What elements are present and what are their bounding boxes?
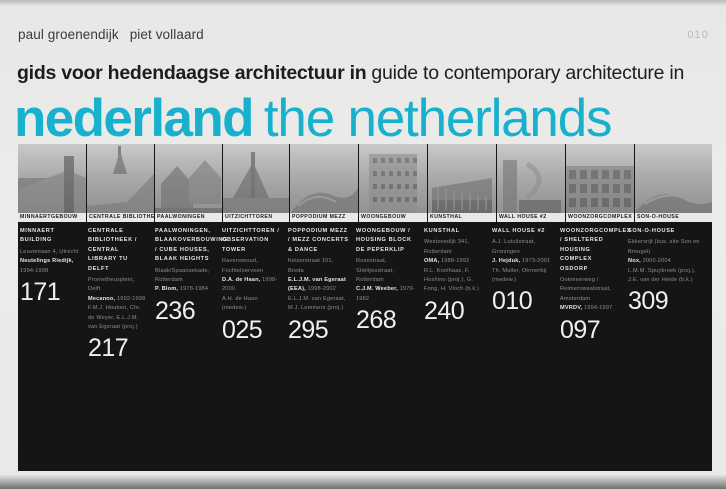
project-entry[interactable]: MINNAERT BUILDINGLeuvenlaan 4, UtrechtNe…: [18, 222, 86, 362]
project-page-number[interactable]: 217: [88, 335, 148, 362]
project-address: Ravenswoud, Fochteloerveen: [222, 257, 281, 276]
photo-strip: MINNAERTGEBOUWCENTRALE BIBLIOTHEEKPAALWO…: [18, 144, 712, 222]
project-page-number[interactable]: 097: [560, 317, 621, 344]
project-architect: J. Hejduk, 1973-2001: [492, 257, 553, 266]
project-architect: OMA, 1988-1992: [424, 257, 485, 266]
photo-artwork: [18, 144, 86, 222]
photo-caption: WOONZORGCOMPLEX: [566, 213, 634, 222]
project-meta: Westzeedijk 341, RotterdamOMA, 1988-1992…: [424, 238, 485, 294]
project-architect: Nox, 2000-2004: [628, 257, 707, 266]
photo-artwork: [497, 144, 565, 222]
photo-artwork: [87, 144, 154, 222]
project-collaborators: R.L. Koolhaas, F. Hoshino (proj.), G. Fo…: [424, 267, 485, 295]
project-architect: Mecanoo, 1992-1998: [88, 295, 148, 304]
photo-artwork: [635, 144, 712, 222]
project-meta: Ekkersrijt (bus. site Son en Breugel)Nox…: [628, 238, 707, 285]
photo-caption: CENTRALE BIBLIOTHEEK: [87, 213, 154, 222]
project-meta: Prometheusplein, DelftMecanoo, 1992-1998…: [88, 276, 148, 332]
project-meta: Leuvenlaan 4, UtrechtNeutelings Riedijk,…: [20, 248, 81, 276]
book-cover: paul groenendijkpiet vollaard 010 gids v…: [0, 0, 726, 489]
project-title: KUNSTHAL: [424, 227, 485, 236]
project-entry[interactable]: WOONZORGCOMPLEX / SHELTERED HOUSING COMP…: [558, 222, 626, 362]
project-title: WOONZORGCOMPLEX / SHELTERED HOUSING COMP…: [560, 227, 621, 274]
project-title: POPPODIUM MEZZ / MEZZ CONCERTS & DANCE: [288, 227, 349, 255]
project-meta: Keizerstraat 101, BredaE.L.J.M. van Eger…: [288, 257, 349, 313]
project-entry[interactable]: PAALWONINGEN, BLAAKOVERBOUWING / CUBE HO…: [153, 222, 220, 362]
project-photo: KUNSTHAL: [428, 144, 497, 222]
project-architect: E.L.J.M. van Egeraat (EEA), 1998-2002: [288, 276, 349, 295]
project-photo: MINNAERTGEBOUW: [18, 144, 87, 222]
project-address: A.J. Lutulistraat, Groningen: [492, 238, 553, 257]
project-address: Rosestraat, Stieltjesstraat, Rotterdam: [356, 257, 417, 285]
project-page-number[interactable]: 236: [155, 298, 215, 325]
project-panel: MINNAERTGEBOUWCENTRALE BIBLIOTHEEKPAALWO…: [18, 144, 712, 471]
project-address: Blaak/Spaansekade, Rotterdam: [155, 267, 215, 286]
photo-caption: KUNSTHAL: [428, 213, 496, 222]
project-entry[interactable]: POPPODIUM MEZZ / MEZZ CONCERTS & DANCEKe…: [286, 222, 354, 362]
project-page-number[interactable]: 268: [356, 307, 417, 334]
project-entry[interactable]: KUNSTHALWestzeedijk 341, RotterdamOMA, 1…: [422, 222, 490, 362]
photo-caption: SON-O-HOUSE: [635, 213, 712, 222]
project-meta: Ookmeerweg / Reimerswaalstraat, Amsterda…: [560, 276, 621, 314]
project-title: SON-O-HOUSE: [628, 227, 707, 236]
project-collaborators: Th. Muller, Ohrnerbij (medew.): [492, 267, 553, 286]
project-page-number[interactable]: 309: [628, 288, 707, 315]
photo-artwork: [566, 144, 634, 222]
subtitle-english: guide to contemporary architecture in: [371, 62, 684, 84]
project-title: WOONGEBOUW / HOUSING BLOCK DE PEPERKLIP: [356, 227, 417, 255]
project-photo: SON-O-HOUSE: [635, 144, 712, 222]
photo-caption: PAALWONINGEN: [155, 213, 222, 222]
project-photo: WALL HOUSE #2: [497, 144, 566, 222]
project-entry[interactable]: CENTRALE BIBLIOTHEEK / CENTRAL LIBRARY T…: [86, 222, 153, 362]
project-collaborators: E.L.J.M. van Egeraat, M.J. Lemmers (proj…: [288, 295, 349, 314]
author-2: piet vollaard: [130, 27, 204, 42]
project-title: UITZICHTTOREN / OBSERVATION TOWER: [222, 227, 281, 255]
project-architect: P. Blom, 1978-1984: [155, 285, 215, 294]
project-architect: C.J.M. Weeber, 1979-1982: [356, 285, 417, 304]
project-photo: CENTRALE BIBLIOTHEEK: [87, 144, 155, 222]
project-photo: WOONGEBOUW: [359, 144, 428, 222]
project-page-number[interactable]: 240: [424, 298, 485, 325]
project-title: WALL HOUSE #2: [492, 227, 553, 236]
project-architect: MVRDV, 1994-1997: [560, 304, 621, 313]
project-entry[interactable]: WOONGEBOUW / HOUSING BLOCK DE PEPERKLIPR…: [354, 222, 422, 362]
photo-caption: WOONGEBOUW: [359, 213, 427, 222]
project-entry[interactable]: SON-O-HOUSEEkkersrijt (bus. site Son en …: [626, 222, 712, 362]
photo-caption: MINNAERTGEBOUW: [18, 213, 86, 222]
authors-line: paul groenendijkpiet vollaard: [18, 27, 215, 42]
project-photo: PAALWONINGEN: [155, 144, 223, 222]
project-address: Leuvenlaan 4, Utrecht: [20, 248, 81, 257]
main-title: nederlandthe netherlands: [14, 92, 611, 145]
title-dutch: nederland: [14, 89, 253, 148]
project-photo: POPPODIUM MEZZ: [290, 144, 359, 222]
project-meta: Rosestraat, Stieltjesstraat, RotterdamC.…: [356, 257, 417, 304]
project-address: Westzeedijk 341, Rotterdam: [424, 238, 485, 257]
project-meta: Blaak/Spaansekade, RotterdamP. Blom, 197…: [155, 267, 215, 295]
project-collaborators: F.M.J. Houben, Chr. de Weyer, E.L.J.M. v…: [88, 304, 148, 332]
project-address: Ekkersrijt (bus. site Son en Breugel): [628, 238, 707, 257]
photo-artwork: [223, 144, 289, 222]
subtitle-dutch: gids voor hedendaagse architectuur in: [17, 62, 366, 84]
project-title: PAALWONINGEN, BLAAKOVERBOUWING / CUBE HO…: [155, 227, 215, 265]
photo-caption: POPPODIUM MEZZ: [290, 213, 358, 222]
project-page-number[interactable]: 010: [492, 288, 553, 315]
project-address: Prometheusplein, Delft: [88, 276, 148, 295]
photo-artwork: [155, 144, 222, 222]
photo-artwork: [290, 144, 358, 222]
project-collaborators: A.H. de Haan (medew.): [222, 295, 281, 314]
project-architect: D.A. de Haan, 1998-2000: [222, 276, 281, 295]
project-address: Keizerstraat 101, Breda: [288, 257, 349, 276]
photo-artwork: [359, 144, 427, 222]
project-page-number[interactable]: 025: [222, 317, 281, 344]
project-collaborators: L.M.M. Spuybroek (proj.), J.E. van der H…: [628, 267, 707, 286]
project-photo: WOONZORGCOMPLEX: [566, 144, 635, 222]
project-page-number[interactable]: 295: [288, 317, 349, 344]
publisher-logo: 010: [687, 29, 709, 41]
photo-caption: WALL HOUSE #2: [497, 213, 565, 222]
project-title: CENTRALE BIBLIOTHEEK / CENTRAL LIBRARY T…: [88, 227, 148, 274]
title-english: the netherlands: [264, 89, 611, 148]
author-1: paul groenendijk: [18, 27, 119, 42]
photo-caption: UITZICHTTOREN: [223, 213, 289, 222]
project-address: Ookmeerweg / Reimerswaalstraat, Amsterda…: [560, 276, 621, 304]
photo-artwork: [428, 144, 496, 222]
project-meta: Ravenswoud, FochteloerveenD.A. de Haan, …: [222, 257, 281, 313]
project-meta: A.J. Lutulistraat, GroningenJ. Hejduk, 1…: [492, 238, 553, 285]
project-page-number[interactable]: 171: [20, 279, 81, 306]
project-entry[interactable]: WALL HOUSE #2A.J. Lutulistraat, Groninge…: [490, 222, 558, 362]
project-architect: Neutelings Riedijk, 1994-1998: [20, 257, 81, 276]
project-entry[interactable]: UITZICHTTOREN / OBSERVATION TOWERRavensw…: [220, 222, 286, 362]
project-columns: MINNAERT BUILDINGLeuvenlaan 4, UtrechtNe…: [18, 222, 712, 362]
project-title: MINNAERT BUILDING: [20, 227, 81, 246]
project-photo: UITZICHTTOREN: [223, 144, 290, 222]
subtitle-line: gids voor hedendaagse architectuur ingui…: [17, 62, 684, 85]
